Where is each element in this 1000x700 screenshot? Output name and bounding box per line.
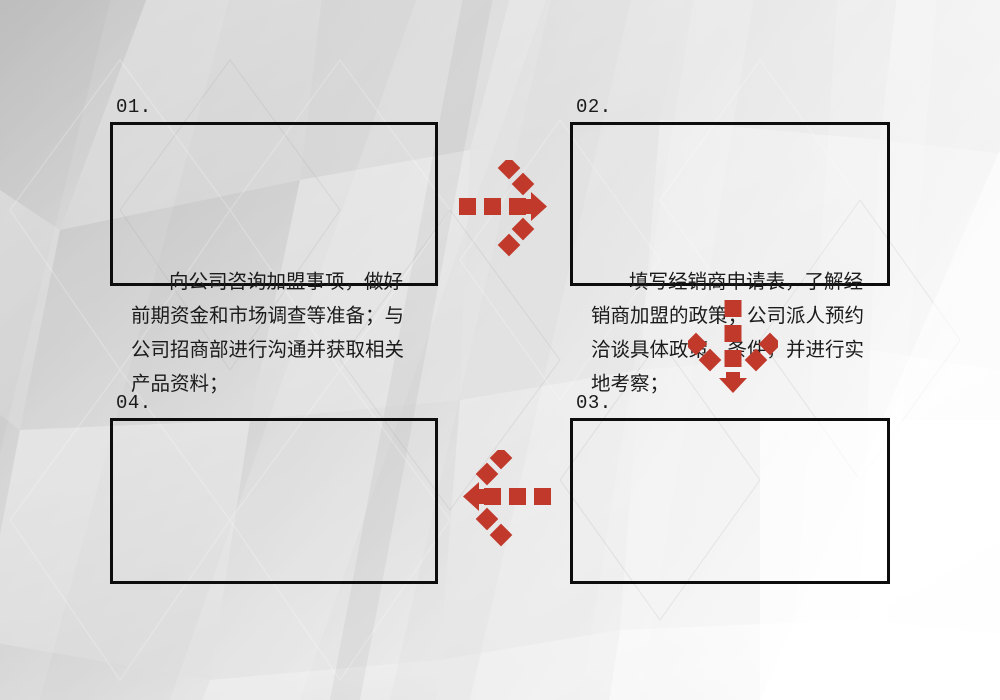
step-box-01[interactable]: 向公司咨询加盟事项，做好前期资金和市场调查等准备；与公司招商部进行沟通并获取相关… <box>110 122 438 286</box>
arrow-down-icon <box>688 296 778 400</box>
slide-canvas: 01. 向公司咨询加盟事项，做好前期资金和市场调查等准备；与公司招商部进行沟通并… <box>0 0 1000 700</box>
step-box-04[interactable]: 公司对经销商进行 培训和指导后方可开业。 <box>110 418 438 584</box>
step-box-02[interactable]: 填写经销商申请表，了解经销商加盟的政策；公司派人预约洽谈具体政策、条件，并进行实… <box>570 122 890 286</box>
arrow-left-icon <box>455 450 555 550</box>
step-body-01: 向公司咨询加盟事项，做好前期资金和市场调查等准备；与公司招商部进行沟通并获取相关… <box>113 265 435 401</box>
arrow-right-icon <box>455 160 555 260</box>
step-box-03[interactable]: 经公司总部综合评估后签订正式授权合同；公司发放授权证书； <box>570 418 890 584</box>
step-number-03: 03. <box>576 394 612 413</box>
step-number-01: 01. <box>116 98 152 117</box>
step-number-04: 04. <box>116 394 152 413</box>
step-number-02: 02. <box>576 98 612 117</box>
